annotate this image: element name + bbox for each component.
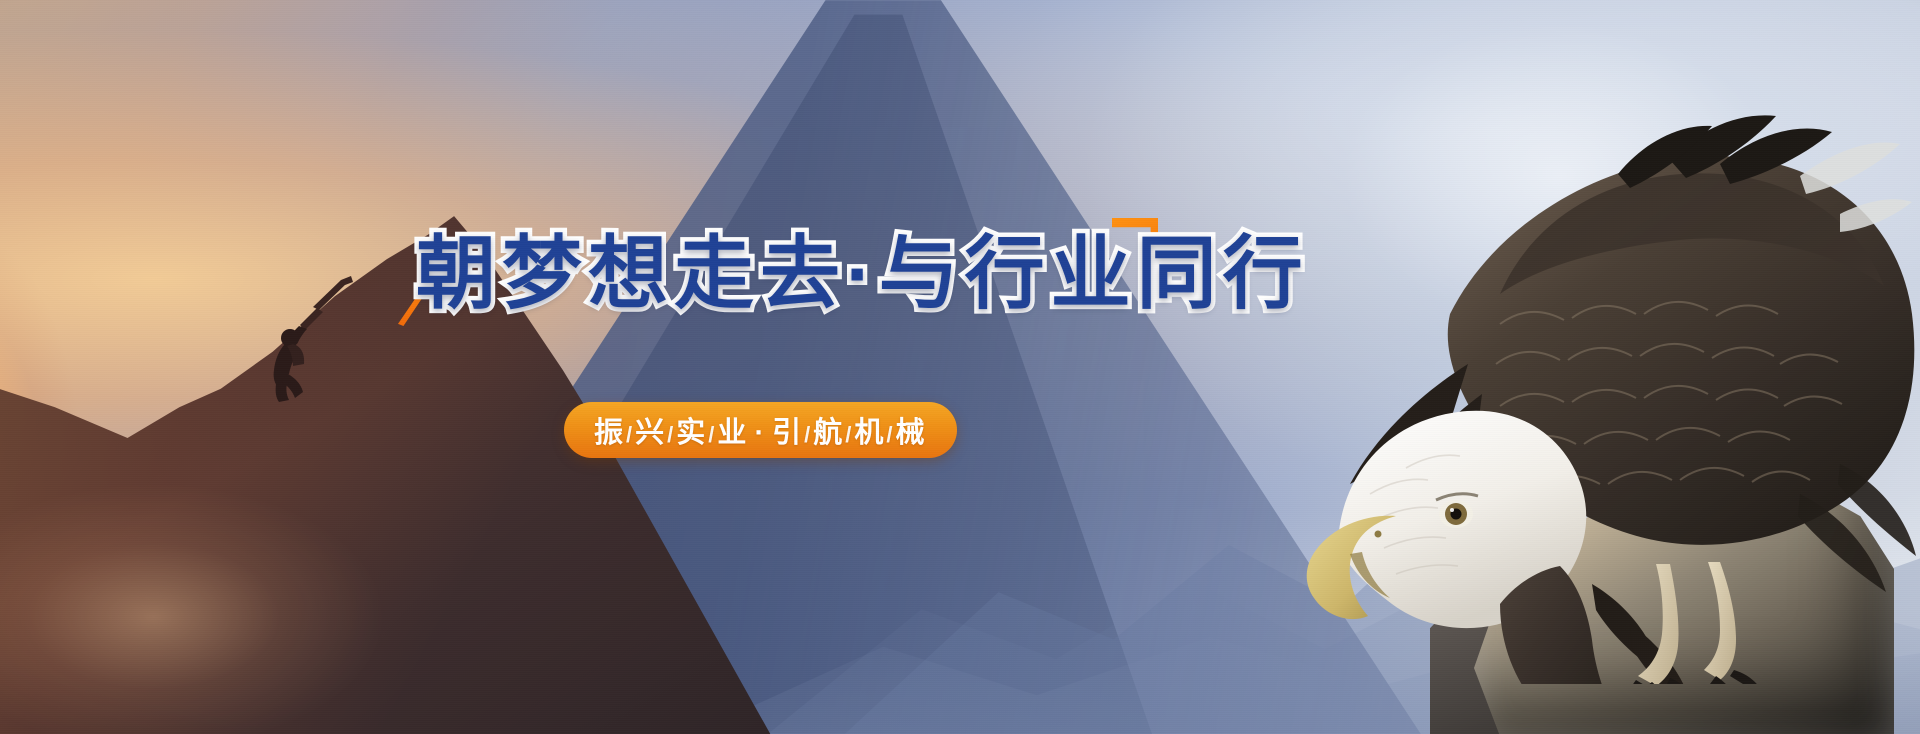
mountain-climber-icon [255, 274, 365, 404]
banner-text-block: 朝梦想走去·与行业同行 振/兴/实/业·引/航/机/械 [398, 212, 1168, 462]
banner-title: 朝梦想走去·与行业同行 [416, 234, 1309, 314]
hero-banner: 朝梦想走去·与行业同行 振/兴/实/业·引/航/机/械 [0, 0, 1920, 734]
banner-subtitle-pill: 振/兴/实/业·引/航/机/械 [564, 402, 957, 458]
bald-eagle-illustration [1200, 64, 1920, 684]
banner-subtitle-text: 振/兴/实/业·引/航/机/械 [594, 409, 927, 451]
